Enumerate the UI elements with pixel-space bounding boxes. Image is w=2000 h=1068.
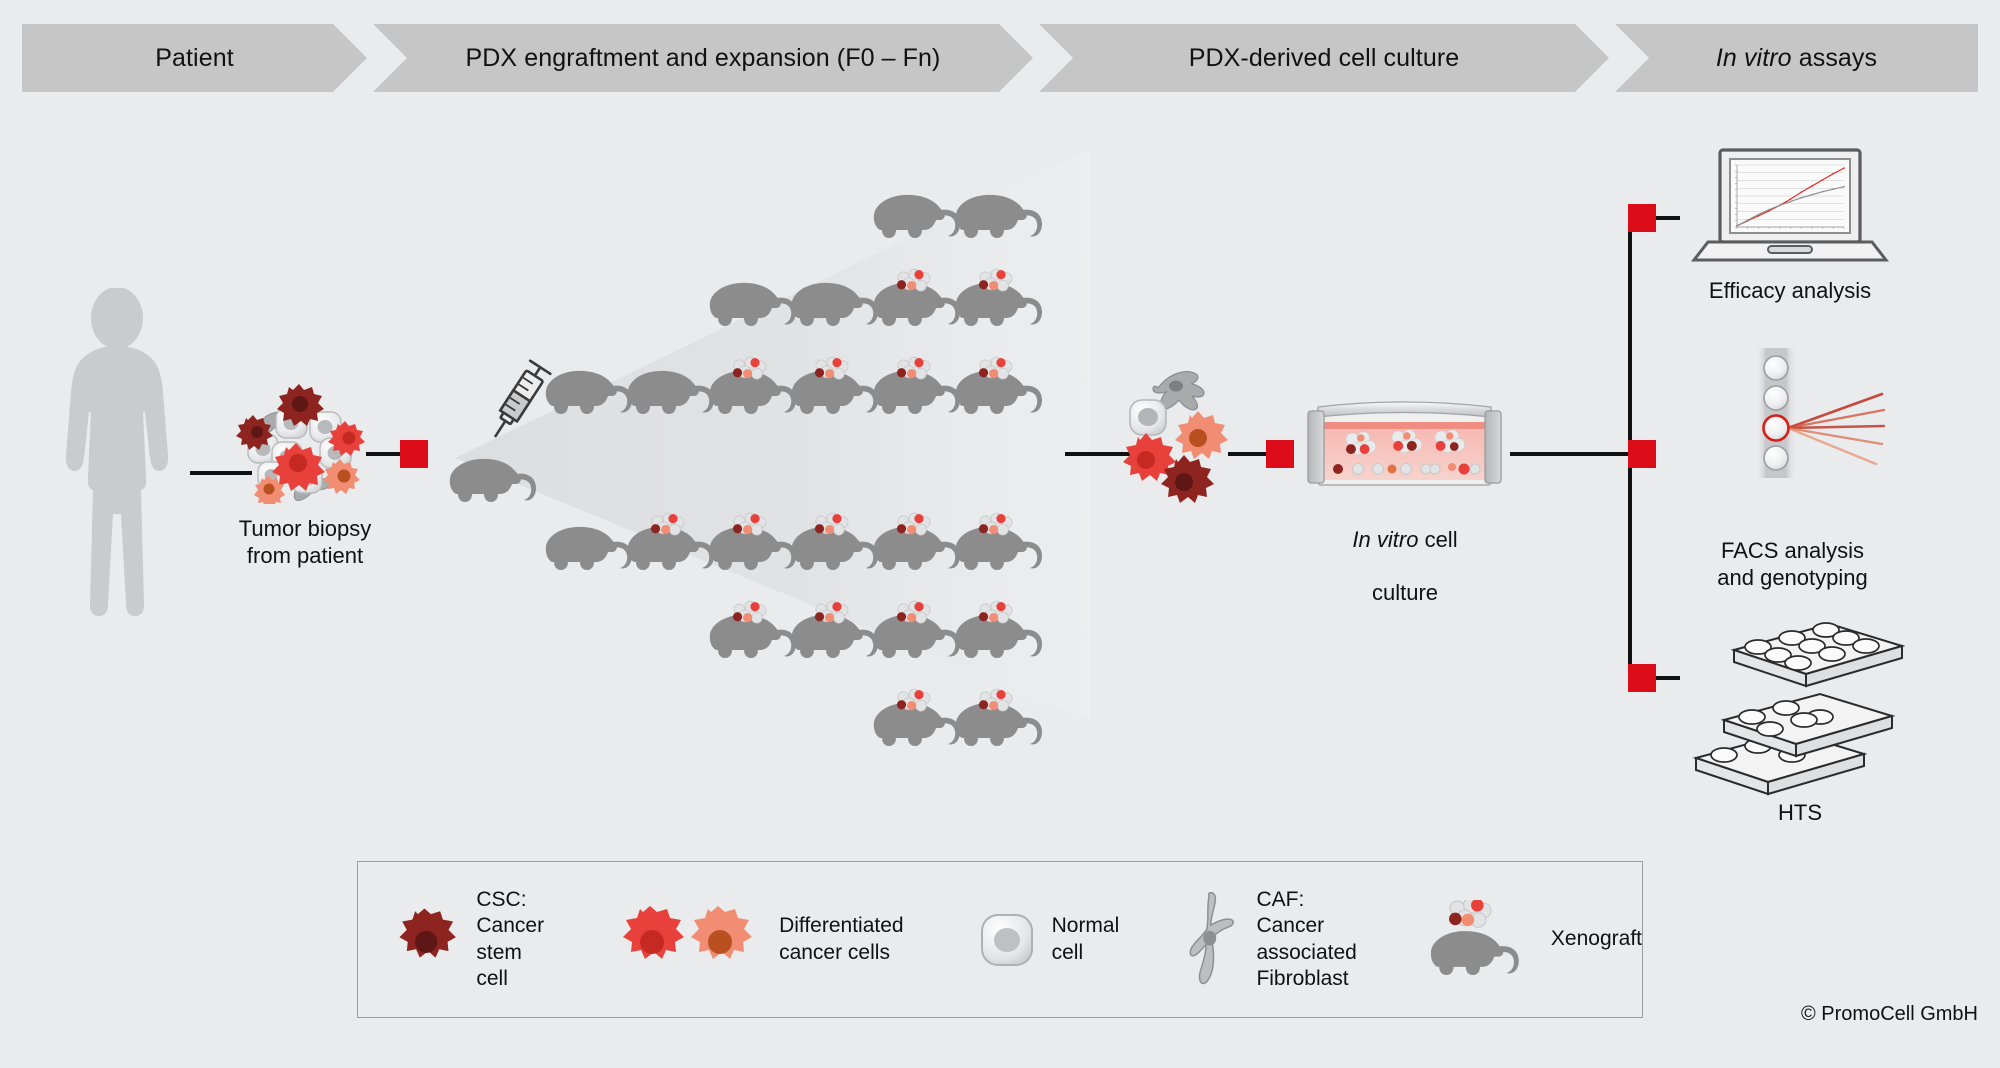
flow-node-biopsy[interactable]: [400, 440, 428, 468]
xenograft-mouse: [874, 513, 960, 570]
culture-caption-italic: In vitro: [1352, 527, 1418, 552]
flow-node-facs[interactable]: [1628, 440, 1656, 468]
header-step-pdx-derived-cell-culture[interactable]: PDX-derived cell culture: [1039, 24, 1609, 92]
assay-label-hts: HTS: [1700, 800, 1900, 827]
header-step-patient[interactable]: Patient: [22, 24, 367, 92]
header-step-pdx-engraftment[interactable]: PDX engraftment and expansion (F0 – Fn): [373, 24, 1033, 92]
legend-item-normal-cell: Normal cell: [976, 907, 1120, 973]
culture-caption: In vitro cell culture: [1300, 500, 1510, 607]
xenograft-mouse: [956, 513, 1042, 570]
normal-cell: [1130, 400, 1166, 435]
header-step-in-vitro-assays[interactable]: In vitro assays: [1615, 24, 1978, 92]
xenograft-mouse: [710, 357, 796, 414]
xenograft-mouse: [956, 269, 1042, 326]
biopsy-caption: Tumor biopsy from patient: [180, 516, 430, 570]
xenograft-mouse: [956, 195, 1042, 238]
xenograft-mouse: [792, 601, 878, 658]
legend-label-normal-cell: Normal cell: [1052, 913, 1120, 965]
patient-silhouette: [55, 288, 180, 660]
copyright-text: © PromoCell GmbH: [1801, 1003, 1978, 1026]
legend-item-csc: CSC: Cancer stem cell: [392, 887, 553, 991]
flow-cytometer-icon: [1700, 348, 1885, 493]
header-step-label: PDX-derived cell culture: [1189, 44, 1460, 73]
xenograft-mouse: [956, 601, 1042, 658]
xenograft-mouse-icon: [1425, 900, 1535, 980]
xenograft-mouse: [874, 357, 960, 414]
xenograft-mouse: [792, 283, 878, 326]
legend-label-xenograft: Xenograft: [1551, 926, 1642, 952]
xenograft-mouse: [710, 283, 796, 326]
diagram-canvas: Patient PDX engraftment and expansion (F…: [0, 0, 2000, 1068]
culture-caption-rest: cell: [1418, 527, 1457, 552]
flow-node-pdx-cells[interactable]: [1266, 440, 1294, 468]
connector-line-culture-branch: [1510, 452, 1632, 456]
connector-line-cells-node: [1228, 452, 1268, 456]
header-step-label: Patient: [155, 44, 234, 73]
legend-label-csc: CSC: Cancer stem cell: [476, 887, 553, 991]
culture-caption-line2: culture: [1372, 580, 1438, 605]
xenograft-mouse: [874, 601, 960, 658]
laptop-chart-icon: [1690, 148, 1890, 266]
header-step-label-italic: In vitro: [1716, 44, 1792, 72]
legend-box: CSC: Cancer stem cell Differentiated can…: [357, 861, 1643, 1018]
header-step-label: PDX engraftment and expansion (F0 – Fn): [466, 44, 941, 73]
cancer-associated-fibroblast-icon: [1181, 886, 1242, 994]
xenograft-mouse: [628, 371, 714, 414]
microplate-stack-icon: [1690, 608, 1910, 798]
flow-node-efficacy[interactable]: [1628, 204, 1656, 232]
legend-item-differentiated: Differentiated cancer cells: [623, 900, 904, 980]
normal-cell-icon: [976, 907, 1038, 973]
flow-node-hts[interactable]: [1628, 664, 1656, 692]
header-step-label-rest: assays: [1792, 44, 1877, 72]
legend-item-caf: CAF: Cancer associated Fibroblast: [1181, 886, 1369, 994]
legend-label-differentiated: Differentiated cancer cells: [779, 913, 904, 965]
assay-label-facs: FACS analysis and genotyping: [1680, 538, 1905, 592]
xenograft-mouse: [956, 689, 1042, 746]
connector-line-biopsy-node: [366, 452, 402, 456]
pdx-derived-cells-icon: [1112, 356, 1272, 506]
xenograft-mouse: [874, 269, 960, 326]
xenograft-mouse: [792, 357, 878, 414]
differentiated-cancer-cells-icon: [623, 900, 765, 980]
xenograft-mouse: [710, 513, 796, 570]
xenograft-mouse: [628, 513, 714, 570]
workflow-step-header: Patient PDX engraftment and expansion (F…: [22, 24, 1978, 92]
header-step-label: In vitro assays: [1716, 44, 1877, 73]
xenograft-mouse: [546, 371, 632, 414]
xenograft-mouse: [874, 689, 960, 746]
xenograft-mouse: [956, 357, 1042, 414]
cancer-stem-cell-icon: [392, 900, 462, 980]
xenograft-mouse: [710, 601, 796, 658]
legend-label-caf: CAF: Cancer associated Fibroblast: [1256, 887, 1368, 991]
differentiated-cancer-cell-salmon: [1175, 411, 1228, 459]
xenograft-mouse: [874, 195, 960, 238]
pdx-mouse-cohort: [440, 150, 1100, 770]
assay-label-efficacy: Efficacy analysis: [1680, 278, 1900, 305]
tumor-biopsy-cluster-icon: [236, 382, 368, 504]
xenograft-mouse: [546, 527, 632, 570]
in-vitro-culture-dish-icon: [1302, 395, 1507, 500]
xenograft-mouse: [450, 459, 536, 502]
legend-item-xenograft: Xenograft: [1425, 900, 1642, 980]
xenograft-mouse: [792, 513, 878, 570]
